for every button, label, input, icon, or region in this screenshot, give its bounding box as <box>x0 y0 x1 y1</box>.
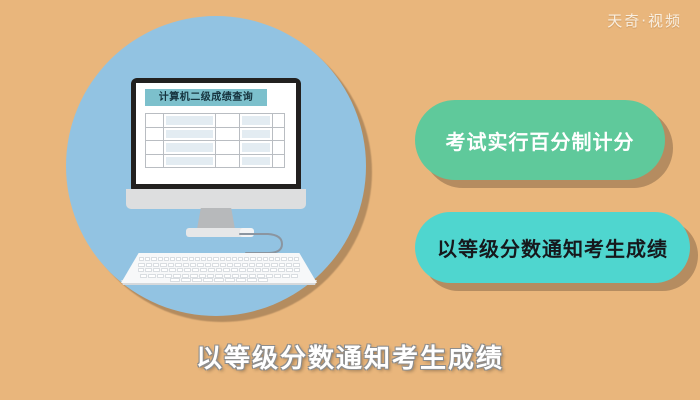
keyboard-key <box>220 257 225 261</box>
keyboard-key-row <box>121 263 317 267</box>
keyboard-key-row <box>121 268 317 272</box>
keyboard-key <box>170 278 180 282</box>
keyboard-key <box>220 263 226 267</box>
keyboard-key <box>281 257 286 261</box>
table-row <box>240 128 272 142</box>
keyboard-key <box>214 278 224 282</box>
table-column-3 <box>216 114 239 167</box>
keyboard-key <box>203 278 213 282</box>
table-column-2 <box>164 114 216 167</box>
keyboard-key-row <box>121 257 317 261</box>
table-row <box>273 128 284 142</box>
keyboard-key <box>274 274 281 278</box>
keyboard-key <box>169 268 176 272</box>
keyboard-key <box>294 268 301 272</box>
table-row <box>216 155 238 168</box>
keyboard-key <box>279 263 285 267</box>
table-row <box>164 128 215 142</box>
keyboard-key <box>212 263 218 267</box>
keyboard-key <box>262 268 269 272</box>
table-row <box>164 141 215 155</box>
table-row <box>146 141 163 155</box>
keyboard-key <box>244 257 249 261</box>
keyboard-key <box>266 274 273 278</box>
keyboard-key <box>225 278 235 282</box>
keyboard-key <box>249 274 256 278</box>
keyboard-key <box>270 268 277 272</box>
table-cell-fill <box>166 143 213 152</box>
keyboard-key <box>291 274 298 278</box>
monitor-screen: 计算机二级成绩查询 <box>136 83 296 184</box>
keyboard-key <box>151 257 156 261</box>
table-cell-fill <box>242 130 270 139</box>
keyboard-key <box>207 257 212 261</box>
keyboard-key <box>258 278 268 282</box>
table-row <box>273 114 284 128</box>
pill-exam-scoring[interactable]: 考试实行百分制计分 <box>415 100 665 180</box>
keyboard-key <box>250 257 255 261</box>
table-column-1 <box>146 114 164 167</box>
keyboard-key <box>158 257 163 261</box>
table-cell-fill <box>166 130 213 139</box>
keyboard-key <box>170 257 175 261</box>
table-row <box>216 128 238 142</box>
keyboard-key <box>294 257 299 261</box>
keyboard-key <box>282 274 289 278</box>
monitor-stand-neck <box>197 208 235 229</box>
keyboard-key <box>138 268 145 272</box>
keyboard-key <box>223 268 230 272</box>
keyboard-key <box>153 268 160 272</box>
table-row <box>273 141 284 155</box>
table-row <box>216 141 238 155</box>
keyboard-key <box>215 274 222 278</box>
keyboard-key <box>238 257 243 261</box>
keyboard-key <box>189 257 194 261</box>
keyboard-key <box>256 263 262 267</box>
keyboard-key <box>247 268 254 272</box>
keyboard-key <box>293 263 299 267</box>
table-cell-fill <box>242 143 270 152</box>
table-column-4 <box>240 114 273 167</box>
keyboard-key <box>173 274 180 278</box>
keyboard-key <box>257 274 264 278</box>
keyboard-key <box>255 268 262 272</box>
keyboard-key <box>146 263 152 267</box>
keyboard-key <box>227 263 233 267</box>
table-row <box>273 155 284 168</box>
keyboard-key <box>140 274 147 278</box>
keyboard-keys <box>121 253 317 283</box>
keyboard-key <box>278 268 285 272</box>
keyboard-key <box>192 278 202 282</box>
keyboard-key <box>239 268 246 272</box>
keyboard-key <box>263 257 268 261</box>
table-row <box>216 114 238 128</box>
keyboard-key <box>139 257 144 261</box>
keyboard-key <box>182 257 187 261</box>
table-row <box>240 141 272 155</box>
keyboard-key <box>275 257 280 261</box>
table-cell-fill <box>242 157 270 166</box>
keyboard-key <box>145 268 152 272</box>
keyboard-key <box>190 263 196 267</box>
keyboard-key <box>242 263 248 267</box>
table-row <box>146 128 163 142</box>
keyboard-key <box>247 278 257 282</box>
table-row <box>164 114 215 128</box>
keyboard-key-row <box>121 274 317 278</box>
keyboard-key <box>257 257 262 261</box>
keyboard-key <box>264 263 270 267</box>
keyboard-key <box>207 274 214 278</box>
keyboard-key <box>195 257 200 261</box>
keyboard-key <box>213 257 218 261</box>
keyboard-key <box>165 274 172 278</box>
screen-title-banner: 计算机二级成绩查询 <box>145 89 267 106</box>
keyboard-key <box>208 268 215 272</box>
keyboard-key <box>224 274 231 278</box>
keyboard-key <box>205 263 211 267</box>
keyboard-key <box>176 257 181 261</box>
keyboard-key <box>145 257 150 261</box>
table-column-5 <box>273 114 284 167</box>
keyboard-key <box>216 268 223 272</box>
keyboard-key <box>177 268 184 272</box>
keyboard-key <box>164 257 169 261</box>
keyboard-key <box>249 263 255 267</box>
keyboard-key <box>197 263 203 267</box>
keyboard-key-row <box>121 278 317 282</box>
keyboard-key <box>236 278 246 282</box>
keyboard-key <box>201 257 206 261</box>
video-frame: 天奇·视频 计算机二级成绩查询 <box>0 0 700 400</box>
video-subtitle: 以等级分数通知考生成绩 <box>0 338 700 375</box>
keyboard-key <box>168 263 174 267</box>
keyboard-key <box>269 257 274 261</box>
monitor-chin <box>126 189 306 209</box>
keyboard-key <box>200 268 207 272</box>
desktop-monitor: 计算机二级成绩查询 <box>131 78 301 190</box>
keyboard-key <box>175 263 181 267</box>
keyboard-key <box>190 274 197 278</box>
keyboard-key <box>231 268 238 272</box>
keyboard-key <box>232 257 237 261</box>
table-row <box>240 114 272 128</box>
keyboard-key <box>181 278 191 282</box>
table-row <box>164 155 215 168</box>
keyboard-key <box>232 274 239 278</box>
table-row <box>146 114 163 128</box>
keyboard-key <box>199 274 206 278</box>
keyboard-key <box>240 274 247 278</box>
table-row <box>146 155 163 168</box>
keyboard-key <box>226 257 231 261</box>
keyboard-key <box>161 268 168 272</box>
channel-watermark: 天奇·视频 <box>607 10 682 31</box>
keyboard-key <box>234 263 240 267</box>
keyboard-key <box>157 274 164 278</box>
keyboard-key <box>288 257 293 261</box>
monitor-bezel: 计算机二级成绩查询 <box>131 78 301 190</box>
keyboard-key <box>271 263 277 267</box>
pill-grade-notify[interactable]: 以等级分数通知考生成绩 <box>415 212 690 283</box>
keyboard-key <box>192 268 199 272</box>
keyboard-key <box>138 263 144 267</box>
table-cell-fill <box>166 157 213 166</box>
keyboard-key <box>153 263 159 267</box>
keyboard <box>121 253 317 289</box>
keyboard-key <box>184 268 191 272</box>
table-row <box>240 155 272 168</box>
keyboard-key <box>160 263 166 267</box>
table-cell-fill <box>242 116 270 125</box>
keyboard-key <box>286 263 292 267</box>
keyboard-key <box>286 268 293 272</box>
keyboard-key <box>182 274 189 278</box>
score-query-table <box>145 113 285 168</box>
table-cell-fill <box>166 116 213 125</box>
keyboard-key <box>183 263 189 267</box>
keyboard-key <box>148 274 155 278</box>
